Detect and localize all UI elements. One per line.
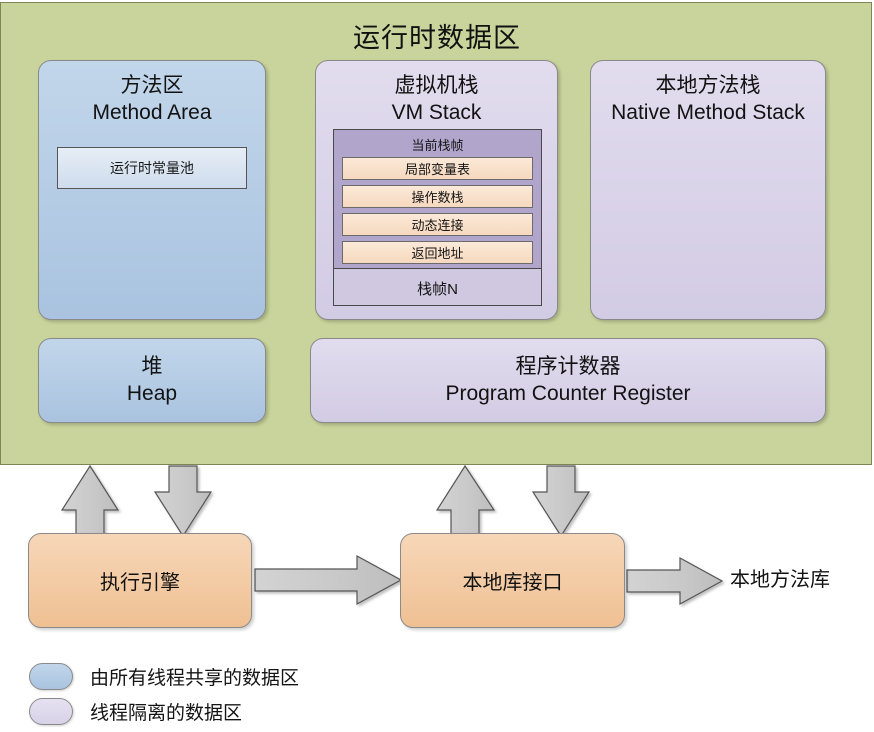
legend-item-shared: 由所有线程共享的数据区 xyxy=(29,663,299,690)
method-area-region[interactable]: 方法区 Method Area 运行时常量池 xyxy=(38,60,266,320)
heap-region[interactable]: 堆 Heap xyxy=(38,338,266,423)
arrow-up-native-interface-to-runtime xyxy=(437,466,494,536)
current-stack-frame-label: 当前栈帧 xyxy=(342,133,533,157)
frame-item-return-address[interactable]: 返回地址 xyxy=(342,241,533,264)
legend-swatch-isolated-icon xyxy=(29,698,73,725)
native-library-interface-box[interactable]: 本地库接口 xyxy=(400,533,625,628)
legend-swatch-shared-icon xyxy=(29,663,73,690)
frame-item-operand-stack[interactable]: 操作数栈 xyxy=(342,185,533,208)
current-stack-frame[interactable]: 当前栈帧 局部变量表 操作数栈 动态连接 返回地址 xyxy=(334,130,541,269)
runtime-data-area-title: 运行时数据区 xyxy=(1,16,873,55)
arrow-right-engine-to-native-interface xyxy=(255,556,401,604)
runtime-constant-pool-box[interactable]: 运行时常量池 xyxy=(57,147,247,189)
arrow-up-engine-to-runtime xyxy=(62,466,118,536)
method-area-title: 方法区 Method Area xyxy=(92,73,211,127)
native-method-stack-title: 本地方法栈 Native Method Stack xyxy=(611,73,805,127)
execution-engine-box[interactable]: 执行引擎 xyxy=(28,533,252,628)
native-method-stack-region[interactable]: 本地方法栈 Native Method Stack xyxy=(590,60,826,320)
legend: 由所有线程共享的数据区 线程隔离的数据区 xyxy=(29,663,299,725)
arrow-right-native-interface-to-library xyxy=(627,558,722,604)
arrow-down-runtime-to-engine xyxy=(155,466,211,536)
frame-item-dynamic-linking[interactable]: 动态连接 xyxy=(342,213,533,236)
arrow-down-runtime-to-native-interface xyxy=(533,466,589,536)
vm-stack-title: 虚拟机栈 VM Stack xyxy=(392,73,482,127)
legend-label-shared: 由所有线程共享的数据区 xyxy=(90,663,299,690)
native-method-library-label: 本地方法库 xyxy=(730,563,830,592)
program-counter-register-region[interactable]: 程序计数器 Program Counter Register xyxy=(310,338,826,423)
vm-stack-region[interactable]: 虚拟机栈 VM Stack 当前栈帧 局部变量表 操作数栈 动态连接 返回地址 … xyxy=(315,60,558,320)
legend-label-isolated: 线程隔离的数据区 xyxy=(90,698,242,725)
legend-item-isolated: 线程隔离的数据区 xyxy=(29,698,299,725)
stack-frames-container: 当前栈帧 局部变量表 操作数栈 动态连接 返回地址 栈帧N xyxy=(333,129,542,306)
heap-title: 堆 Heap xyxy=(127,354,177,408)
program-counter-register-title: 程序计数器 Program Counter Register xyxy=(445,354,690,408)
frame-item-local-variable-table[interactable]: 局部变量表 xyxy=(342,157,533,180)
stack-frame-n[interactable]: 栈帧N xyxy=(334,269,541,307)
